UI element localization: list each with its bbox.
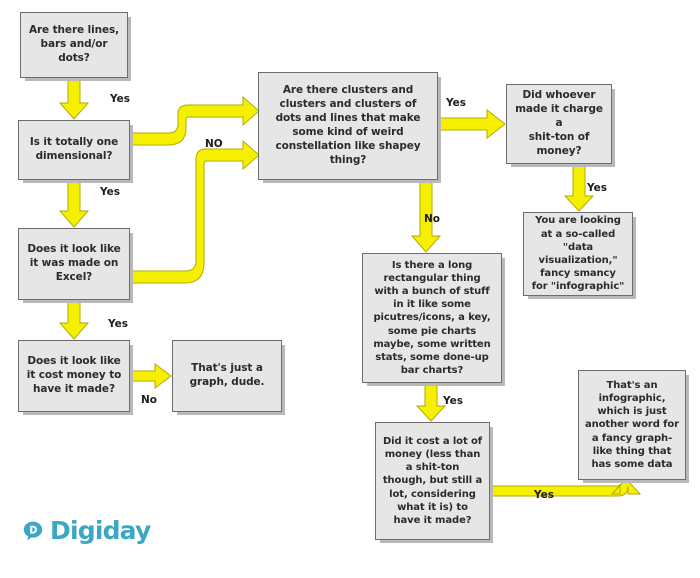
node-start[interactable]: Are there lines, bars and/or dots? (20, 12, 128, 78)
node-thats-an-infographic[interactable]: That's an infographic, which is just ano… (578, 370, 686, 480)
edge-label-long-rect-yes: Yes (443, 395, 463, 407)
edge-cost-money-to-just-a-graph (131, 364, 171, 388)
speech-bubble-d-icon (22, 520, 44, 542)
node-data-visualization[interactable]: You are looking at a so-called "data vis… (523, 212, 633, 296)
node-start-text: Are there lines, bars and/or dots? (25, 24, 123, 66)
edge-long-rect-to-cost-a-lot (417, 384, 445, 421)
node-clusters[interactable]: Are there clusters and clusters and clus… (258, 72, 438, 180)
node-long-rectangular-text: Is there a long rectangular thing with a… (367, 259, 497, 378)
edge-label-clusters-no: No (424, 213, 440, 225)
edge-excel-to-clusters (131, 141, 259, 283)
edge-label-one-dim-yes: Yes (100, 186, 120, 198)
edge-start-to-one-dimensional (60, 79, 88, 119)
edge-label-one-dim-no: NO (205, 138, 223, 150)
edge-excel-to-cost-money (60, 301, 88, 339)
edge-one-dimensional-to-clusters (131, 97, 259, 145)
edge-cost-a-lot-to-infographic (491, 479, 640, 496)
node-cost-a-lot-text: Did it cost a lot of money (less than a … (380, 435, 485, 527)
edge-label-cost-money-no: No (141, 394, 157, 406)
edge-label-cost-a-lot-yes: Yes (534, 489, 554, 501)
edge-label-excel-yes: Yes (108, 318, 128, 330)
digiday-wordmark: Digiday (50, 518, 150, 543)
node-cost-a-lot[interactable]: Did it cost a lot of money (less than a … (375, 422, 490, 540)
edge-label-charge-yes: Yes (587, 182, 607, 194)
node-data-visualization-text: You are looking at a so-called "data vis… (528, 214, 628, 293)
node-one-dimensional[interactable]: Is it totally one dimensional? (18, 120, 130, 180)
node-thats-an-infographic-text: That's an infographic, which is just ano… (583, 379, 681, 471)
node-just-a-graph[interactable]: That's just a graph, dude. (172, 340, 282, 412)
node-charge-shit-ton-text: Did whoever made it charge a shit-ton of… (511, 89, 607, 158)
edge-clusters-to-charge (439, 110, 505, 138)
edge-one-dimensional-to-excel (60, 181, 88, 227)
edge-label-clusters-yes: Yes (446, 97, 466, 109)
node-made-on-excel-text: Does it look like it was made on Excel? (23, 243, 125, 285)
node-just-a-graph-text: That's just a graph, dude. (177, 362, 277, 390)
node-long-rectangular[interactable]: Is there a long rectangular thing with a… (362, 253, 502, 383)
digiday-logo[interactable]: Digiday (22, 518, 150, 543)
edge-label-start-yes: Yes (110, 93, 130, 105)
node-clusters-text: Are there clusters and clusters and clus… (263, 84, 433, 167)
node-cost-money-text: Does it look like it cost money to have … (23, 355, 125, 397)
node-charge-shit-ton[interactable]: Did whoever made it charge a shit-ton of… (506, 84, 612, 164)
node-cost-money[interactable]: Does it look like it cost money to have … (18, 340, 130, 412)
node-made-on-excel[interactable]: Does it look like it was made on Excel? (18, 228, 130, 300)
node-one-dimensional-text: Is it totally one dimensional? (23, 136, 125, 164)
flowchart-canvas: Are there lines, bars and/or dots? Is it… (0, 0, 700, 578)
